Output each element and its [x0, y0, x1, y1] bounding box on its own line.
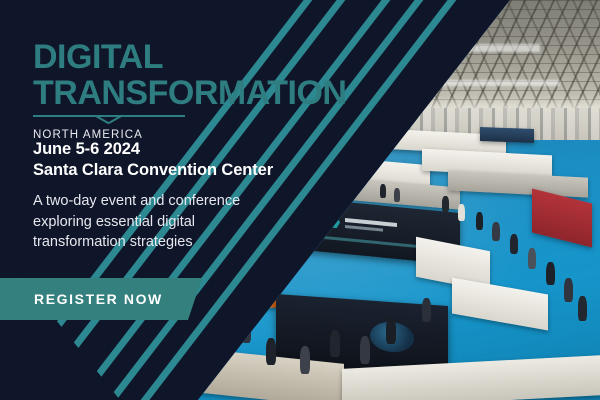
register-now-button[interactable]: REGISTER NOW: [0, 278, 202, 320]
event-venue: Santa Clara Convention Center: [33, 160, 273, 181]
logo-line-transformation: TRANSFORMATION: [33, 76, 346, 110]
register-now-label: REGISTER NOW: [34, 291, 163, 307]
event-logo: DIGITAL TRANSFORMATION NORTH AMERICA: [33, 40, 346, 141]
event-description: A two-day event and conference exploring…: [33, 191, 273, 253]
logo-divider-rule: [33, 115, 185, 125]
promo-banner: DIGITAL TRANSFORMATION NORTH AMERICA Jun…: [0, 0, 600, 400]
logo-line-digital: DIGITAL: [33, 40, 346, 74]
event-date: June 5-6 2024: [33, 139, 273, 160]
event-details: June 5-6 2024 Santa Clara Convention Cen…: [33, 139, 273, 181]
